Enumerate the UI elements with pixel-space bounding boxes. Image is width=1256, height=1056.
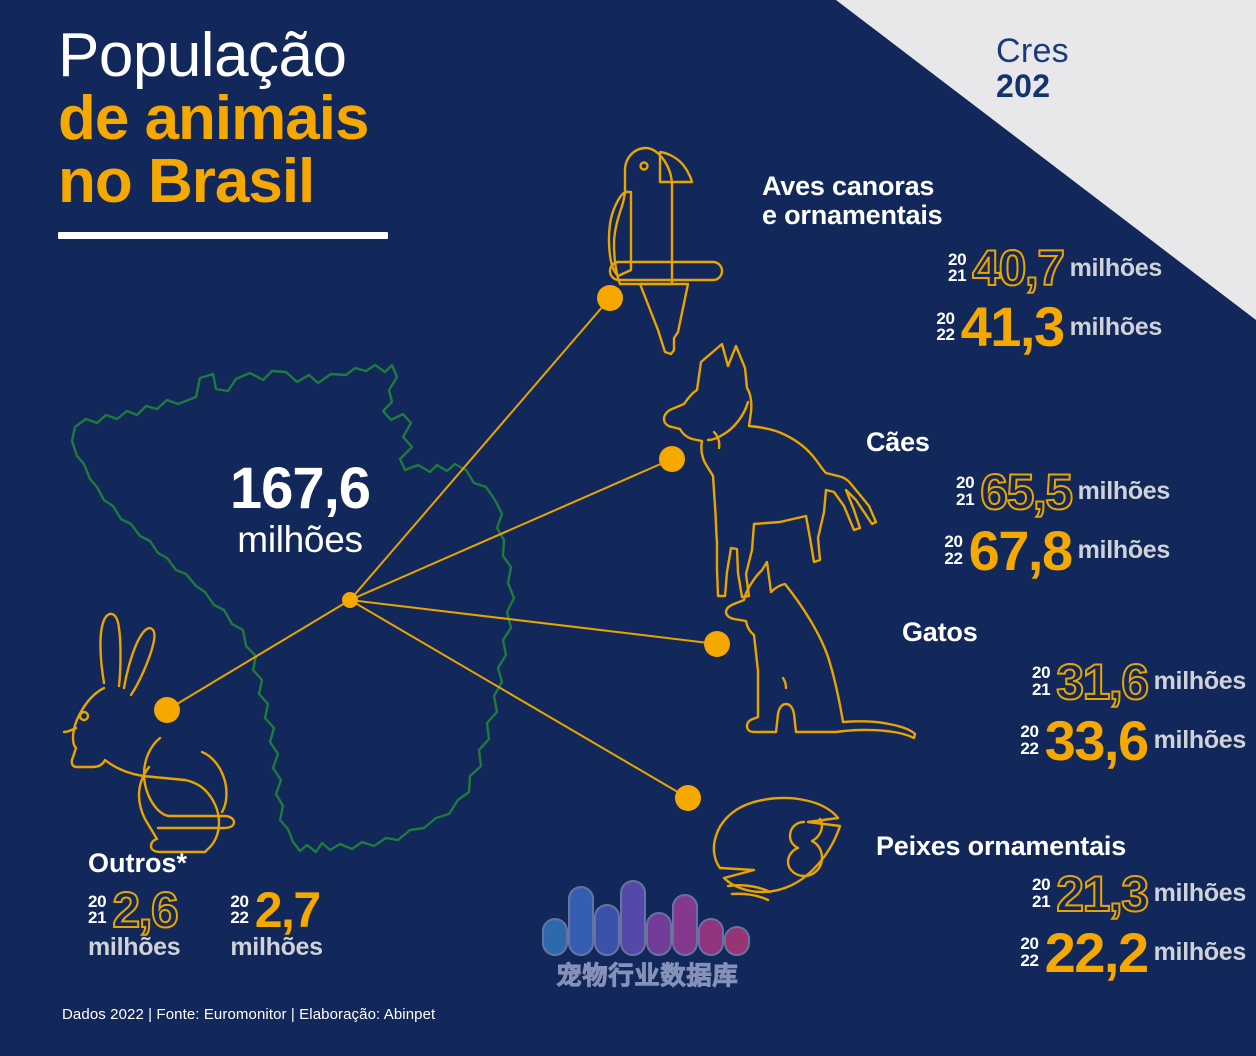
- dot-birds: [597, 285, 623, 311]
- year-badge-2022: 2022: [1020, 936, 1038, 968]
- stat-fish-unit-2021: milhões: [1154, 879, 1246, 908]
- brazil-map-outline: [72, 365, 514, 852]
- stat-dogs-label: Cães: [866, 428, 1170, 457]
- stat-cats-value-2021: 31,6: [1056, 657, 1147, 707]
- connector-line-fish: [350, 600, 688, 798]
- stat-others-unit-2022: milhões: [230, 933, 322, 962]
- watermark-text: 宠物行业数据库: [540, 956, 755, 992]
- stat-dogs-value-2021: 65,5: [980, 467, 1071, 517]
- stat-cats-unit-2021: milhões: [1154, 667, 1246, 696]
- stat-dogs-value-2022: 67,8: [969, 523, 1072, 579]
- year-badge-2021: 2021: [948, 252, 966, 284]
- watermark-bars: [540, 884, 755, 956]
- year-badge-2022: 2022: [936, 311, 954, 343]
- total-value: 167,6: [185, 460, 415, 518]
- stat-fish-value-2021: 21,3: [1056, 869, 1147, 919]
- total-unit: milhões: [185, 520, 415, 561]
- stat-others-value-2022: 2,7: [255, 885, 320, 935]
- stat-birds-value-2021: 40,7: [972, 243, 1063, 293]
- stat-dogs: Cães 2021 65,5 milhões 2022 67,8 milhões: [770, 428, 1170, 579]
- rabbit-icon: [64, 614, 234, 852]
- stat-others-label: Outros*: [88, 848, 518, 879]
- stat-dogs-row-2022: 2022 67,8 milhões: [770, 523, 1170, 579]
- year-badge-2022: 2022: [944, 534, 962, 566]
- stat-birds-row-2021: 2021 40,7 milhões: [762, 243, 1162, 293]
- stat-others-value-2021: 2,6: [112, 885, 177, 935]
- stat-others-unit-2021: milhões: [88, 933, 180, 962]
- stat-dogs-row-2021: 2021 65,5 milhões: [770, 467, 1170, 517]
- connector-line-cats: [350, 600, 717, 644]
- year-badge-2022: 2022: [1020, 724, 1038, 756]
- stat-dogs-unit-2021: milhões: [1078, 477, 1170, 506]
- stat-cats-value-2022: 33,6: [1045, 713, 1148, 769]
- stat-cats-row-2022: 2022 33,6 milhões: [846, 713, 1246, 769]
- stat-birds: Aves canoras e ornamentais 2021 40,7 mil…: [762, 172, 1162, 355]
- year-badge-2021: 2021: [1032, 877, 1050, 909]
- stat-cats-unit-2022: milhões: [1154, 726, 1246, 755]
- dot-dogs: [659, 446, 685, 472]
- year-badge-2022: 2022: [230, 894, 248, 926]
- stat-others-2021: 2021 2,6 milhões: [88, 885, 180, 962]
- dot-cats: [704, 631, 730, 657]
- dot-others: [154, 697, 180, 723]
- stat-birds-unit-2022: milhões: [1070, 313, 1162, 342]
- stat-fish-row-2021: 2021 21,3 milhões: [846, 869, 1246, 919]
- watermark-logo: 宠物行业数据库: [540, 884, 755, 999]
- stat-birds-row-2022: 2022 41,3 milhões: [762, 299, 1162, 355]
- parrot-icon: [609, 148, 722, 354]
- year-badge-2021: 2021: [88, 894, 106, 926]
- infographic-canvas: Cres 202 População de animais no Brasil: [0, 0, 1256, 1056]
- stat-dogs-unit-2022: milhões: [1078, 536, 1170, 565]
- stat-fish: Peixes ornamentais 2021 21,3 milhões 202…: [846, 832, 1246, 981]
- stat-fish-label: Peixes ornamentais: [876, 832, 1246, 861]
- year-badge-2021: 2021: [1032, 665, 1050, 697]
- stat-fish-row-2022: 2022 22,2 milhões: [846, 925, 1246, 981]
- stat-birds-value-2022: 41,3: [961, 299, 1064, 355]
- stat-others-2022: 2022 2,7 milhões: [230, 885, 322, 962]
- year-badge-2021: 2021: [956, 475, 974, 507]
- stat-cats-row-2021: 2021 31,6 milhões: [846, 657, 1246, 707]
- stat-cats: Gatos 2021 31,6 milhões 2022 33,6 milhõe…: [846, 618, 1246, 769]
- stat-birds-unit-2021: milhões: [1070, 254, 1162, 283]
- stat-birds-label: Aves canoras e ornamentais: [762, 172, 1162, 229]
- stat-others: Outros* 2021 2,6 milhões 2022 2,7: [88, 848, 518, 962]
- hub-dot: [342, 592, 358, 608]
- stat-fish-unit-2022: milhões: [1154, 938, 1246, 967]
- stat-cats-label: Gatos: [902, 618, 1246, 647]
- stat-fish-value-2022: 22,2: [1045, 925, 1148, 981]
- dot-fish: [675, 785, 701, 811]
- total-population-block: 167,6 milhões: [185, 460, 415, 561]
- source-footer: Dados 2022 | Fonte: Euromonitor | Elabor…: [62, 1006, 435, 1023]
